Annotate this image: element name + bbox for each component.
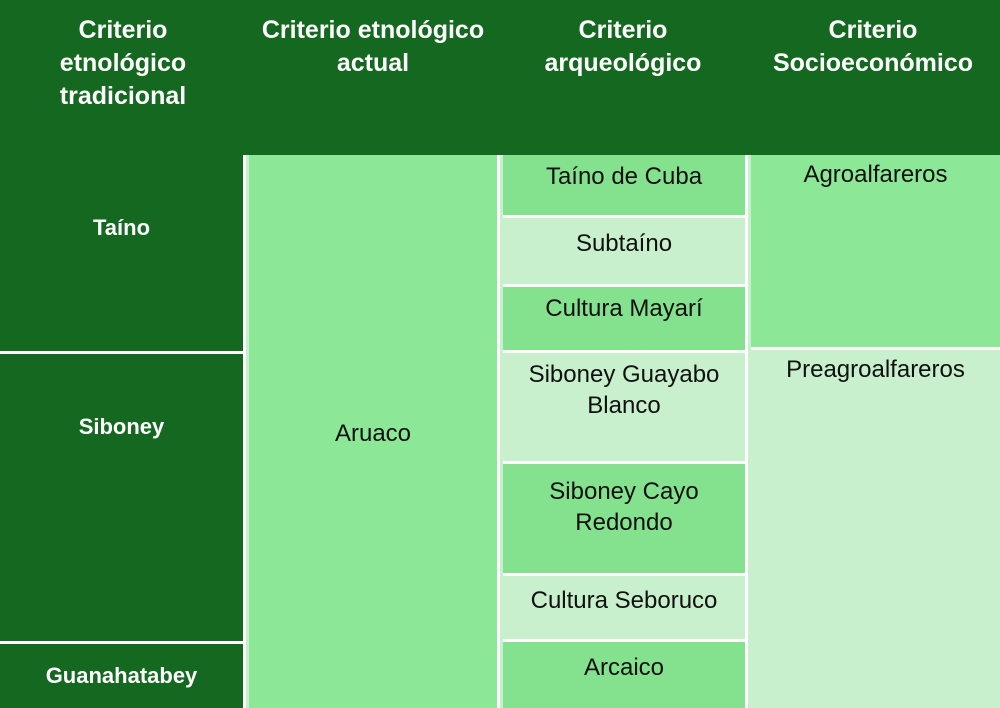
cell-agroalfareros: Agroalfareros xyxy=(751,155,1000,350)
cell-taino-de-cuba: Taíno de Cuba xyxy=(503,155,748,218)
cell-label: Arcaico xyxy=(511,652,737,683)
column-header-criterio-arqueologico: Criterio arqueológico xyxy=(500,0,746,155)
cell-label: Subtaíno xyxy=(511,228,737,259)
cell-label: Cultura Seboruco xyxy=(511,585,737,616)
cell-cultura-mayari: Cultura Mayarí xyxy=(503,287,748,353)
cell-siboney-guayabo-blanco: Siboney Guayabo Blanco xyxy=(503,353,748,464)
cell-cultura-seboruco: Cultura Seboruco xyxy=(503,576,748,642)
table-header-row: Criterio etnológico tradicional Criterio… xyxy=(0,0,1000,155)
column-header-label: Criterio etnológico actual xyxy=(259,14,488,80)
cell-subtaino: Subtaíno xyxy=(503,218,748,287)
cell-label: Taíno xyxy=(8,215,235,241)
table-body: Taíno Siboney Guanahatabey Aruaco Taíno … xyxy=(0,155,1000,708)
cell-label: Taíno de Cuba xyxy=(511,161,737,192)
column-header-criterio-socioeconomico: Criterio Socioeconómico xyxy=(746,0,1000,155)
cell-taino: Taíno xyxy=(0,155,246,354)
cell-siboney: Siboney xyxy=(0,354,246,644)
cell-preagroalfareros: Preagroalfareros xyxy=(751,350,1000,708)
cell-siboney-cayo-redondo: Siboney Cayo Redondo xyxy=(503,464,748,576)
cell-label: Cultura Mayarí xyxy=(511,293,737,324)
cell-label: Preagroalfareros xyxy=(759,356,992,384)
cell-aruaco: Aruaco xyxy=(249,155,500,708)
cell-label: Guanahatabey xyxy=(8,663,235,689)
cell-label: Aruaco xyxy=(257,420,489,448)
cell-label: Siboney Guayabo Blanco xyxy=(511,359,737,421)
cell-label: Siboney Cayo Redondo xyxy=(511,476,737,538)
column-header-label: Criterio arqueológico xyxy=(512,14,733,80)
cell-label: Siboney xyxy=(8,414,235,440)
column-header-label: Criterio etnológico tradicional xyxy=(12,14,233,113)
cell-guanahatabey: Guanahatabey xyxy=(0,644,246,708)
criteria-comparison-table: Criterio etnológico tradicional Criterio… xyxy=(0,0,1000,708)
column-header-criterio-etnologico-actual: Criterio etnológico actual xyxy=(246,0,500,155)
column-header-label: Criterio Socioeconómico xyxy=(759,14,988,80)
cell-arcaico: Arcaico xyxy=(503,642,748,708)
cell-label: Agroalfareros xyxy=(759,161,992,189)
column-header-criterio-etnologico-tradicional: Criterio etnológico tradicional xyxy=(0,0,246,155)
